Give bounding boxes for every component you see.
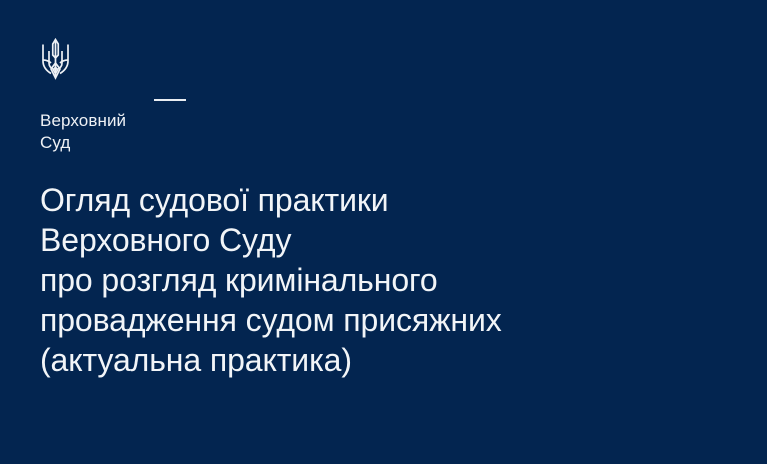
brand-wordmark: Верховний Суд [40,110,300,154]
page-title-line-3: про розгляд кримінального [40,260,730,300]
page-title: Огляд судової практики Верховного Суду п… [40,180,730,380]
cover-page: Верховний Суд Огляд судової практики Вер… [0,0,767,464]
page-title-line-4: провадження судом присяжних [40,300,730,340]
brand-divider [154,99,186,101]
brand-block: Верховний Суд [40,38,300,154]
ukraine-trident-coat-of-arms-icon [40,38,71,82]
page-title-line-2: Верховного Суду [40,220,730,260]
page-title-line-1: Огляд судової практики [40,180,730,220]
page-title-line-5: (актуальна практика) [40,340,730,380]
